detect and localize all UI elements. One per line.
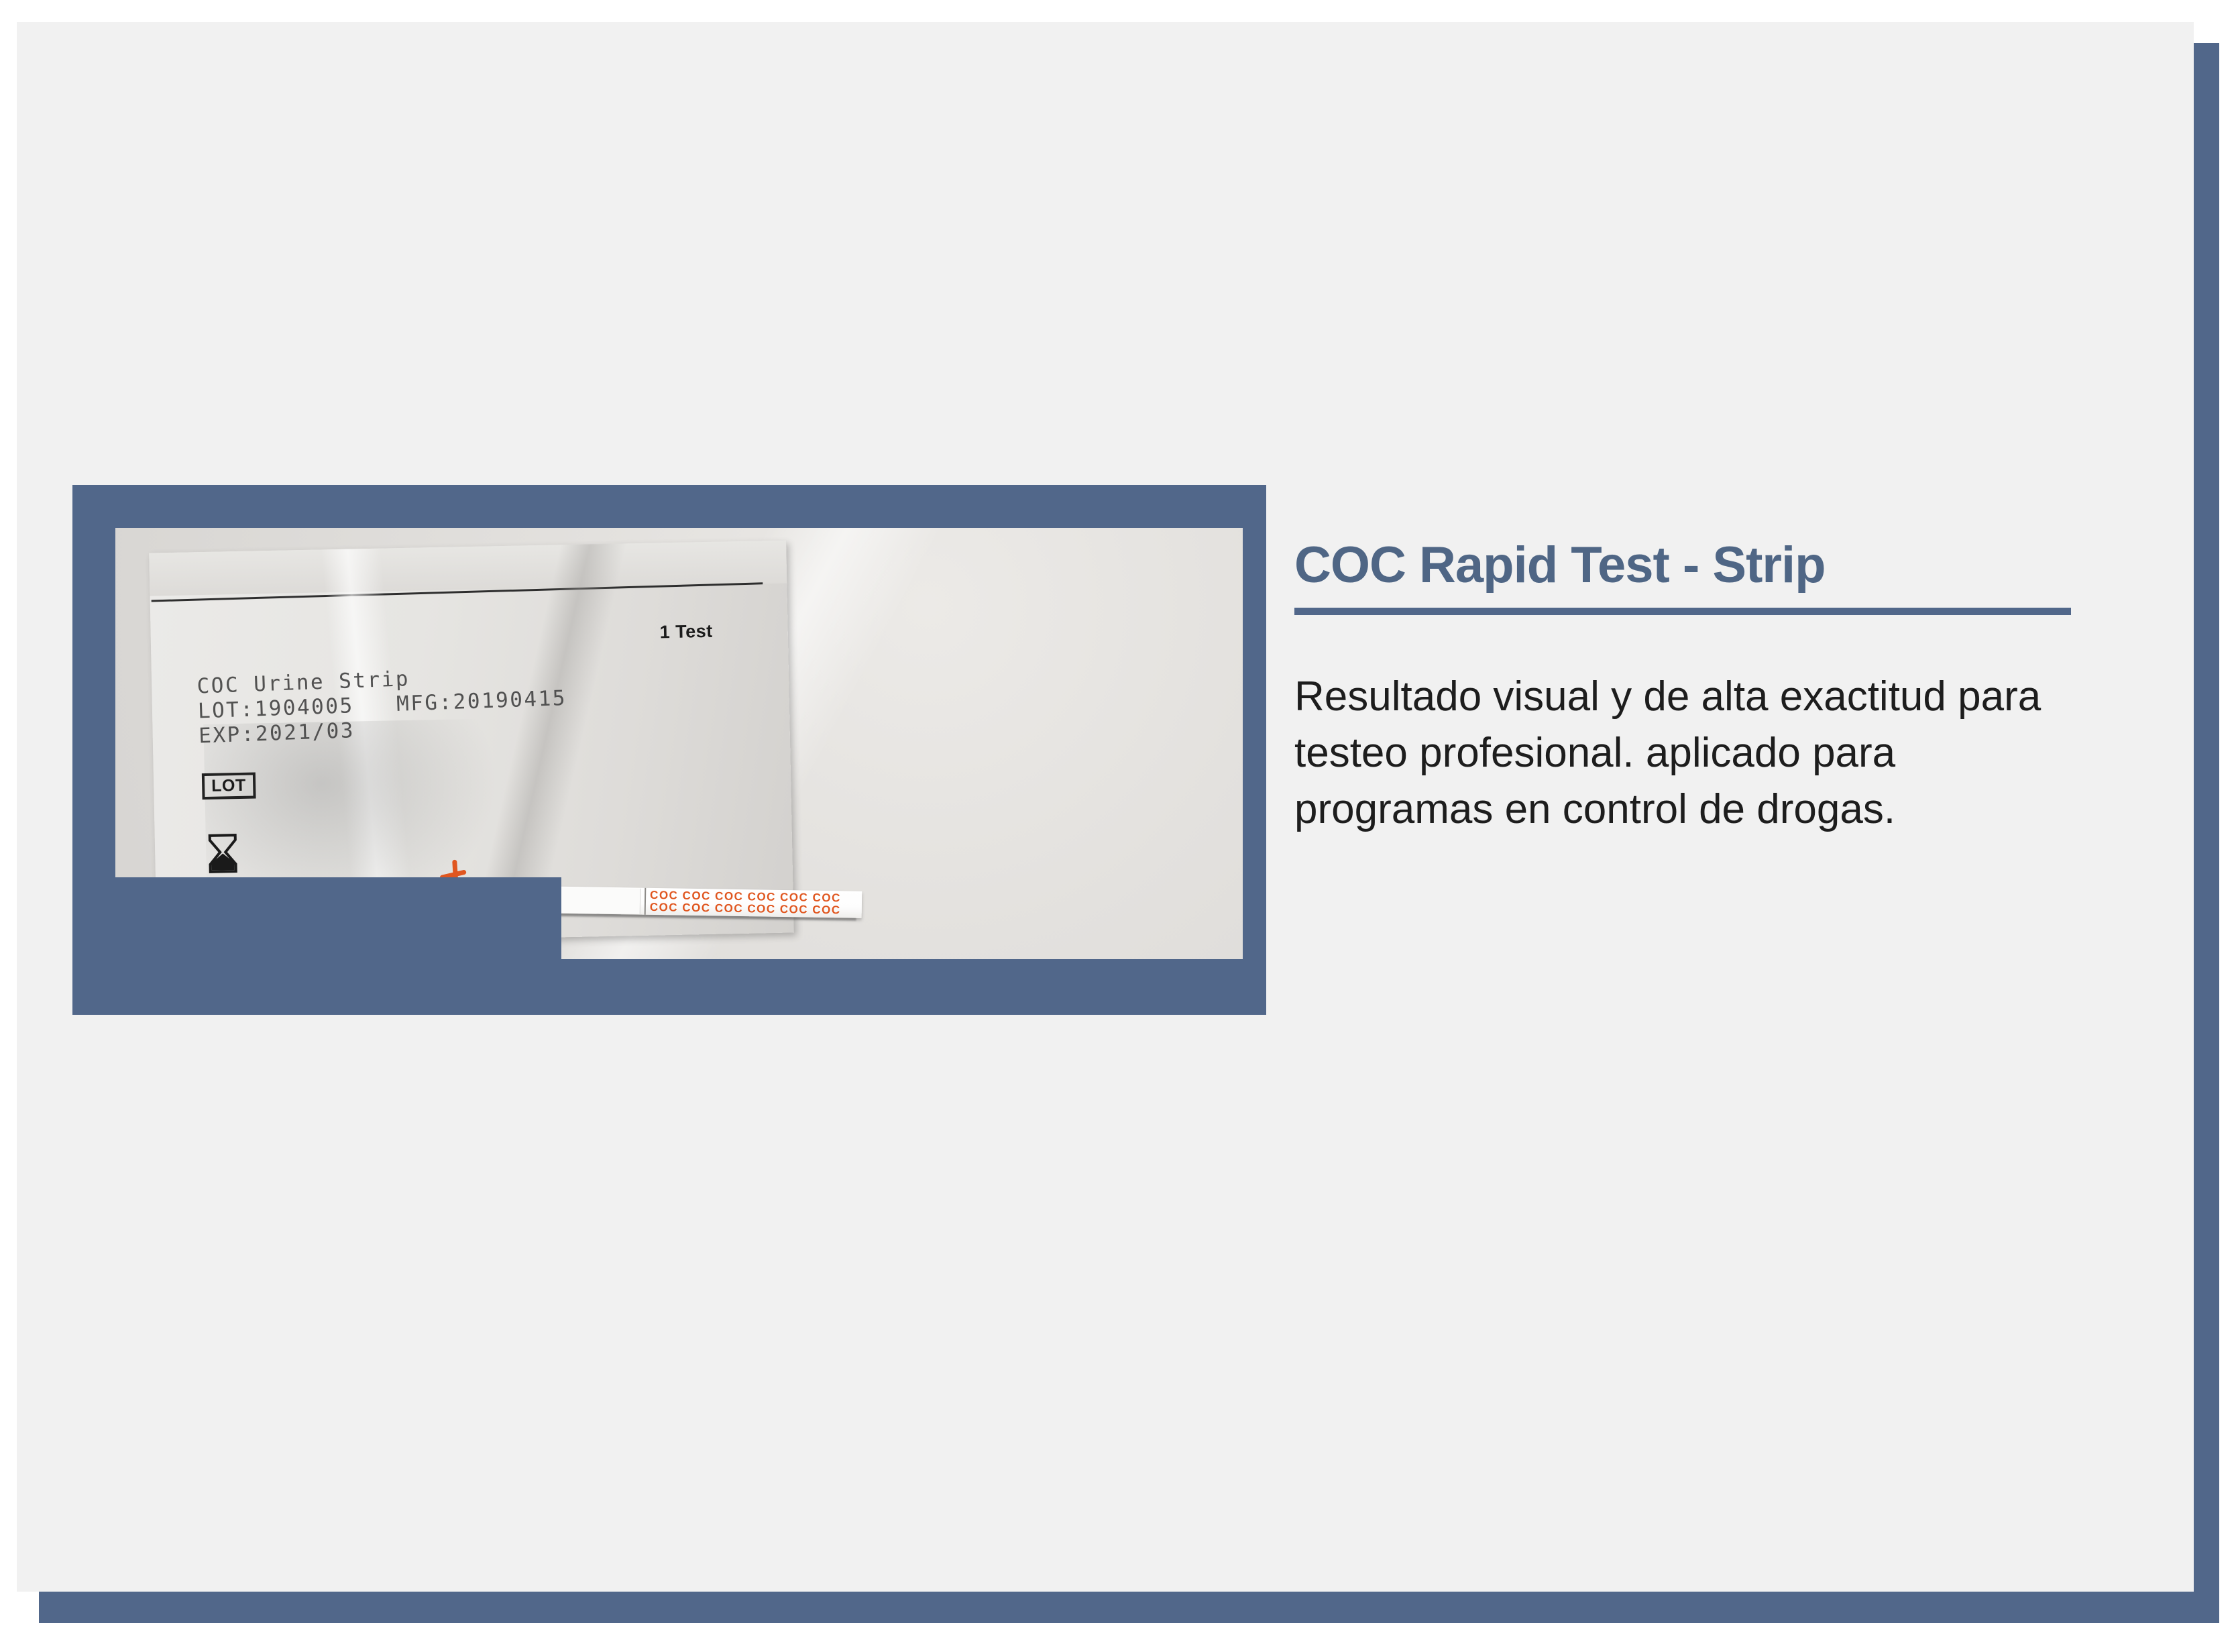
product-description: Resultado visual y de alta exactitud par…: [1294, 669, 2086, 838]
pouch-printed-text: COC Urine Strip LOT:1904005 MFG:20190415…: [197, 661, 568, 749]
bottom-accent-bar: [39, 1592, 2219, 1623]
strip-divider: [645, 888, 647, 915]
pouch-quantity-label: 1 Test: [659, 621, 713, 643]
strip-result-window: [553, 887, 641, 914]
hourglass-icon: [207, 833, 239, 874]
lot-symbol: LOT: [202, 772, 256, 800]
product-text-column: COC Rapid Test - Strip Resultado visual …: [1294, 537, 2113, 879]
right-accent-bar: [2194, 43, 2219, 1623]
title-underline: [1294, 608, 2071, 615]
page-title: COC Rapid Test - Strip: [1294, 537, 2113, 594]
photo-frame-notch: [72, 877, 561, 1015]
